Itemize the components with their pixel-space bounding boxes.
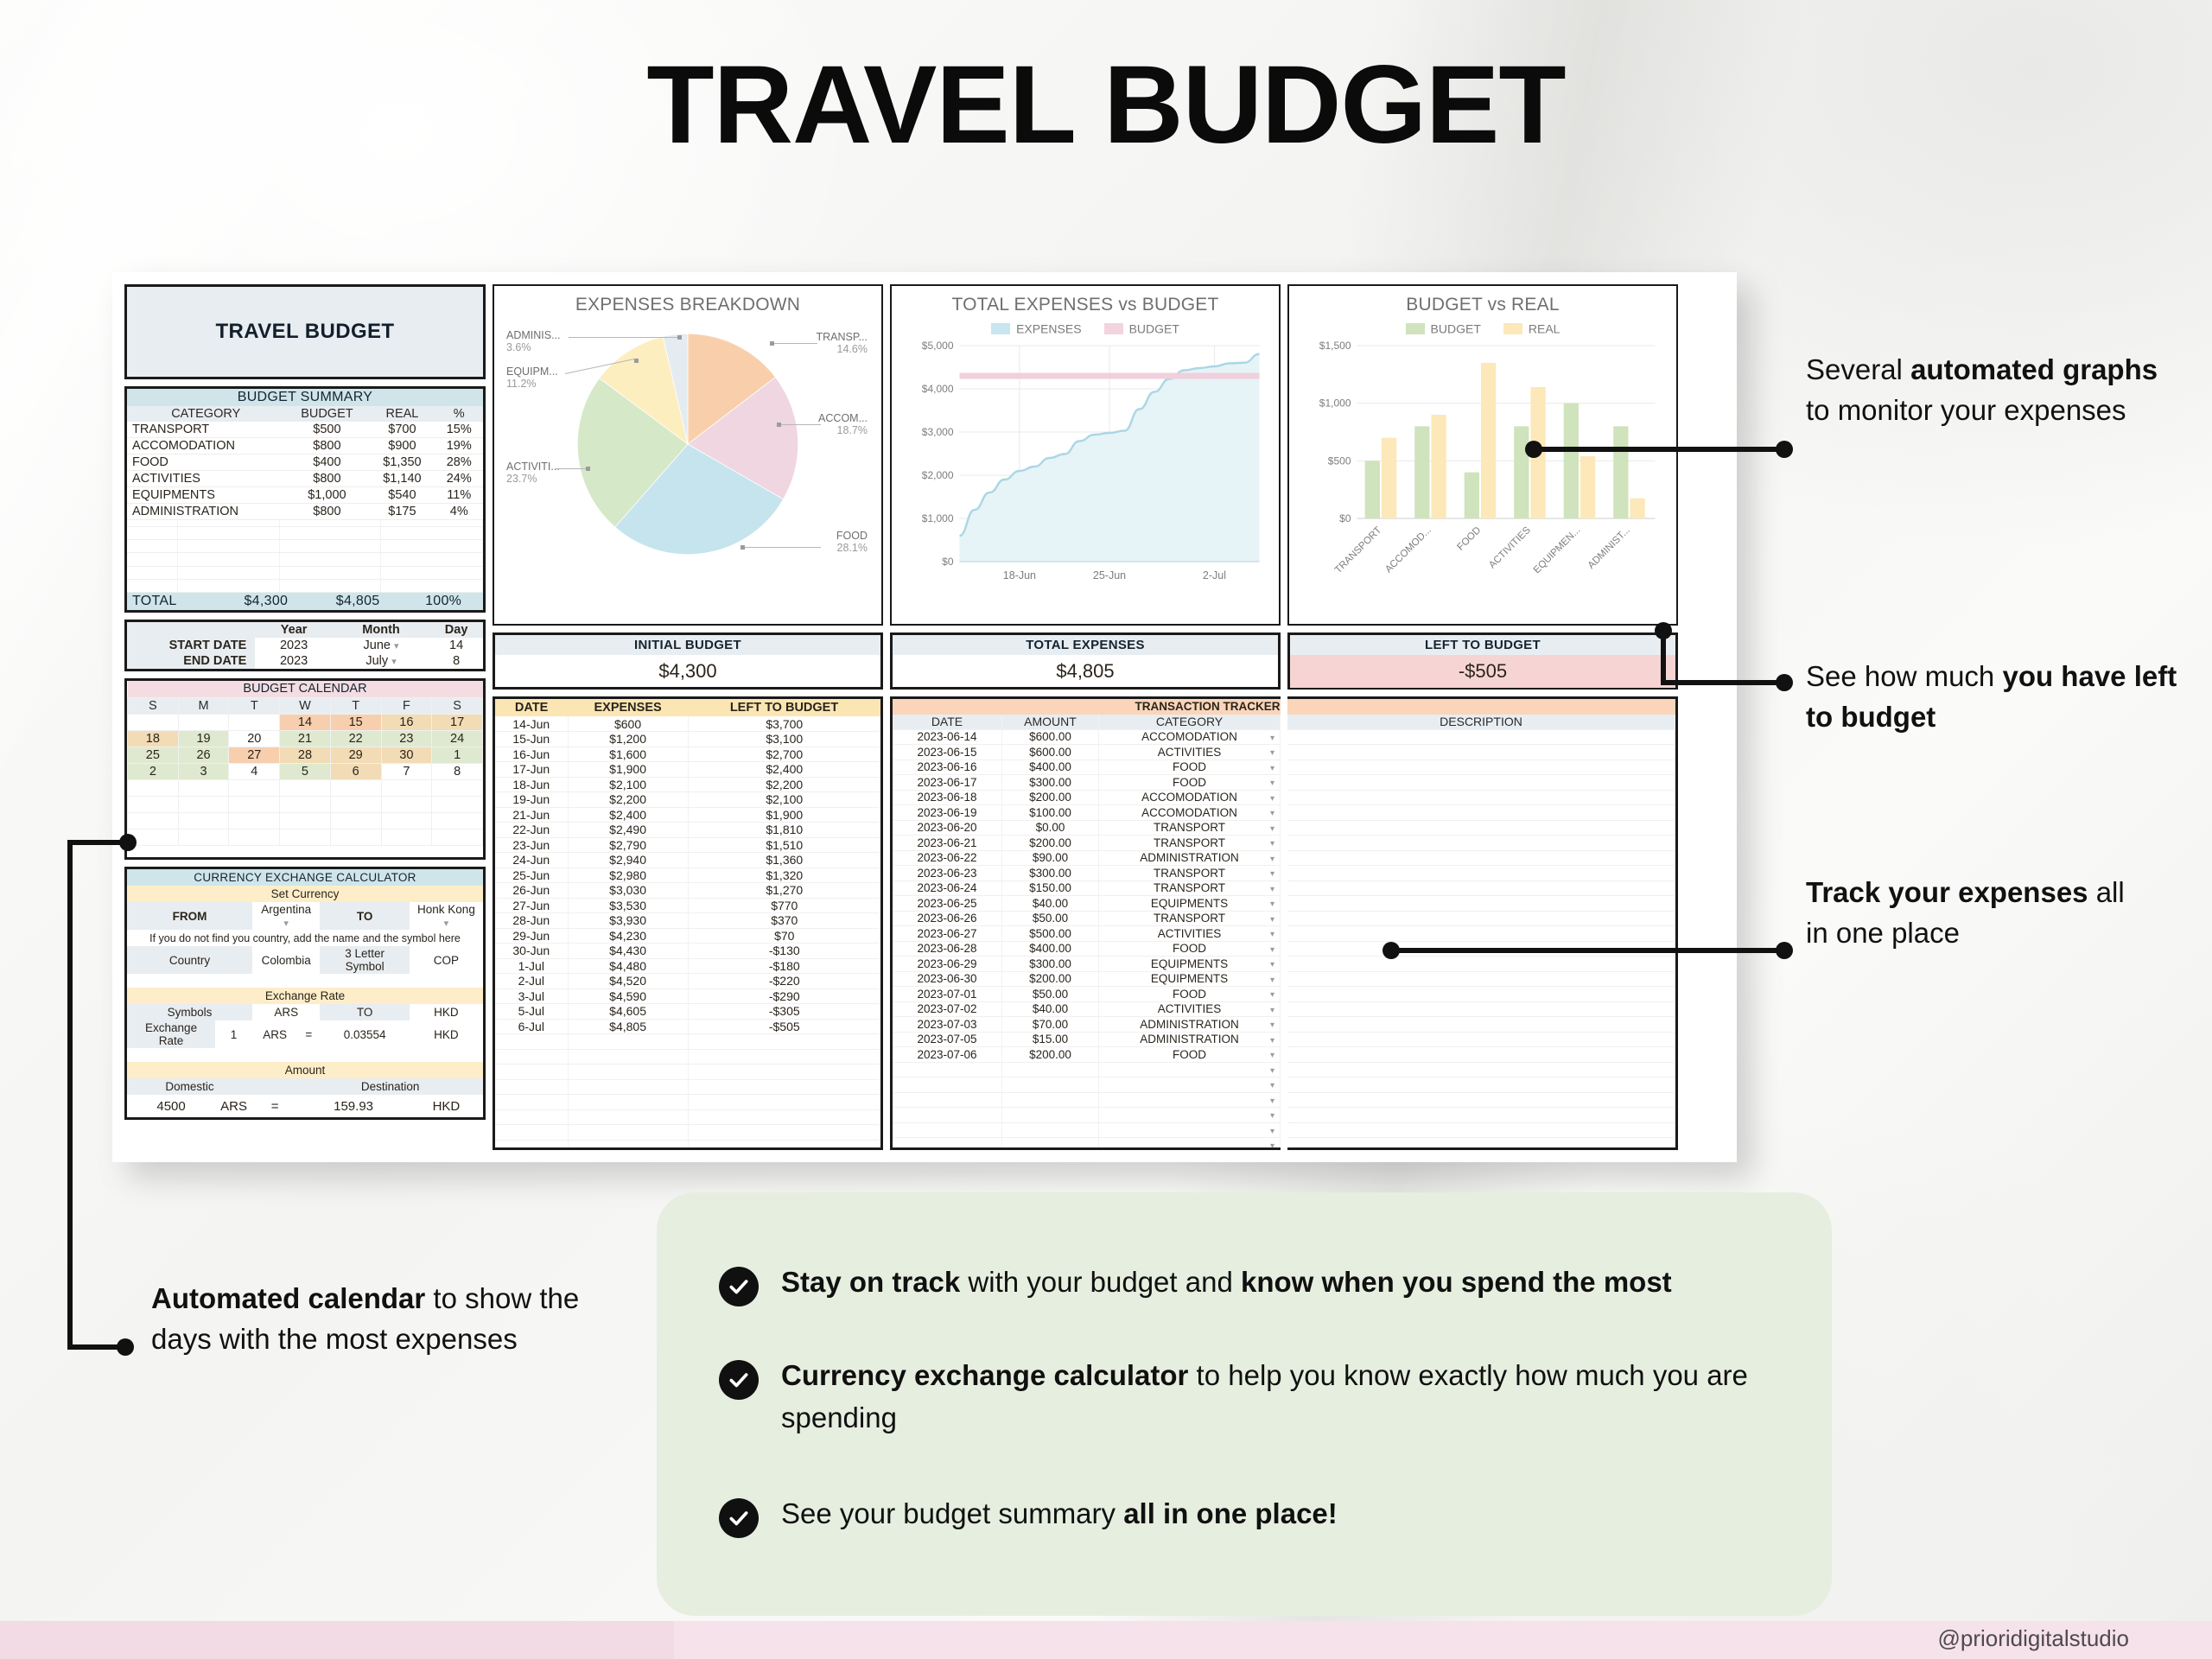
table-row: ▾ (893, 1062, 1281, 1077)
table-row: 16-Jun$1,600$2,700 (495, 747, 880, 762)
description-cell[interactable] (1287, 1017, 1675, 1033)
chart-title: TOTAL EXPENSES vs BUDGET (902, 295, 1268, 315)
converted-amount: 159.93 (297, 1095, 410, 1117)
callout-line-cal-v (67, 840, 73, 1350)
category-select[interactable]: TRANSPORT▾ (1099, 836, 1281, 851)
category-select[interactable]: ACCOMODATION▾ (1099, 729, 1281, 745)
chevron-down-icon: ▾ (1270, 1006, 1274, 1015)
category-select[interactable]: FOOD▾ (1099, 760, 1281, 775)
table-row (1287, 790, 1675, 805)
description-cell[interactable] (1287, 1062, 1675, 1077)
end-date-row: END DATE 2023 July ▾ 8 (127, 653, 483, 669)
category-select[interactable]: TRANSPORT▾ (1099, 911, 1281, 926)
description-cell[interactable] (1287, 896, 1675, 912)
calendar-day: 2 (128, 763, 179, 779)
chevron-down-icon: ▾ (1270, 748, 1274, 758)
table-row: 2023-06-23$300.00TRANSPORT▾ (893, 866, 1281, 881)
feature-bullet-2: Currency exchange calculator to help you… (719, 1355, 1799, 1440)
table-row: ACTIVITIES$800$1,14024% (127, 471, 483, 487)
table-row: 6-Jul$4,805-$505 (495, 1019, 880, 1034)
table-row (1287, 1017, 1675, 1033)
table-row: 22-Jun$2,490$1,810 (495, 823, 880, 838)
x-axis-tick: 2-Jul (1203, 569, 1226, 582)
table-row: 2023-06-26$50.00TRANSPORT▾ (893, 911, 1281, 926)
description-cell[interactable] (1287, 957, 1675, 972)
calendar-day: 3 (178, 763, 229, 779)
legend-item-budget: BUDGET (1406, 321, 1481, 335)
chevron-down-icon: ▾ (1270, 794, 1274, 804)
table-row: ▾ (893, 1077, 1281, 1093)
table-row: 1-Jul$4,480-$180 (495, 958, 880, 974)
x-axis-tick: 18-Jun (1003, 569, 1036, 582)
table-row: 2023-06-29$300.00EQUIPMENTS▾ (893, 957, 1281, 972)
category-select[interactable]: FOOD▾ (1099, 1047, 1281, 1063)
from-country-select[interactable]: Argentina ▾ (252, 902, 320, 930)
description-cell[interactable] (1287, 1138, 1675, 1151)
table-row (1287, 760, 1675, 775)
footer-bar (0, 1621, 2212, 1659)
table-row (1287, 866, 1675, 881)
area-plot: $0$1,000$2,000$3,000$4,000$5,00018-Jun25… (902, 339, 1268, 598)
check-circle-icon (719, 1360, 759, 1400)
calendar-day: 15 (330, 714, 381, 730)
calendar-heading: BUDGET CALENDAR (128, 681, 483, 697)
table-row: 17-Jun$1,900$2,400 (495, 762, 880, 778)
sheet-column-c: TOTAL EXPENSES vs BUDGET EXPENSES BUDGET… (890, 284, 1281, 1150)
table-row (1287, 1032, 1675, 1047)
chart-title: EXPENSES BREAKDOWN (505, 295, 871, 315)
trip-dates-panel: Year Month Day START DATE 2023 June ▾ 14… (124, 620, 486, 671)
description-cell[interactable] (1287, 1001, 1675, 1017)
set-currency-heading: Set Currency (127, 886, 483, 902)
category-select[interactable]: ADMINISTRATION▾ (1099, 1017, 1281, 1033)
description-cell[interactable] (1287, 1092, 1675, 1108)
currency-exchange-panel: CURRENCY EXCHANGE CALCULATOR Set Currenc… (124, 867, 486, 1120)
legend-item-expenses: EXPENSES (991, 321, 1081, 335)
callout-line-left-budget-v (1661, 628, 1666, 685)
budget-calendar-panel: BUDGET CALENDAR S M T W T F S 1415161718… (124, 678, 486, 860)
y-axis-tick: $4,000 (922, 383, 954, 395)
category-select[interactable]: EQUIPMENTS▾ (1099, 896, 1281, 912)
rate-unit: ARS (252, 1020, 297, 1048)
budget-summary-header-row: CATEGORY BUDGET REAL % (127, 406, 483, 422)
table-row: ACCOMODATION$800$90019% (127, 438, 483, 454)
table-row (1287, 880, 1675, 896)
transaction-description-table: DESCRIPTION (1287, 699, 1675, 1150)
initial-budget-kpi: INITIAL BUDGET $4,300 (493, 632, 883, 690)
category-select[interactable]: ▾ (1099, 1092, 1281, 1108)
description-cell[interactable] (1287, 1122, 1675, 1138)
budget-summary-panel: BUDGET SUMMARY CATEGORY BUDGET REAL % TR… (124, 386, 486, 613)
calendar-dow-row: S M T W T F S (128, 697, 483, 714)
x-axis-tick: TRANSPORT (1333, 525, 1383, 575)
table-row (1287, 1077, 1675, 1093)
calendar-day: 27 (229, 747, 280, 763)
description-cell[interactable] (1287, 911, 1675, 926)
table-row: 23-Jun$2,790$1,510 (495, 837, 880, 853)
table-row-empty (495, 1049, 880, 1065)
chevron-down-icon: ▾ (444, 918, 449, 929)
chevron-down-icon: ▾ (1270, 915, 1274, 925)
x-axis-tick: ACTIVITIES (1487, 525, 1533, 571)
chevron-down-icon: ▾ (1270, 1020, 1274, 1030)
calendar-day: 25 (128, 747, 179, 763)
callout-dot-left-budget-end (1776, 674, 1793, 691)
description-cell[interactable] (1287, 790, 1675, 805)
description-cell[interactable] (1287, 1108, 1675, 1123)
chevron-down-icon: ▾ (1270, 1036, 1274, 1046)
chevron-down-icon: ▾ (1270, 976, 1274, 985)
calendar-day: 29 (330, 747, 381, 763)
pie-label-transport: TRANSP...14.6% (816, 331, 868, 355)
description-cell[interactable] (1287, 820, 1675, 836)
table-row (1287, 729, 1675, 745)
chevron-down-icon: ▾ (1270, 809, 1274, 818)
table-row: 2023-06-18$200.00ACCOMODATION▾ (893, 790, 1281, 805)
table-row: 28-Jun$3,930$370 (495, 913, 880, 929)
amount-equals: = (252, 1095, 297, 1117)
calendar-day: 30 (381, 747, 432, 763)
calendar-day: 22 (330, 730, 381, 747)
chevron-down-icon: ▾ (1270, 855, 1274, 864)
rate-target: HKD (410, 1020, 483, 1048)
table-row: TRANSPORT$500$70015% (127, 422, 483, 438)
calendar-day: 7 (381, 763, 432, 779)
table-row (1287, 957, 1675, 972)
col-budget: BUDGET (284, 406, 369, 422)
callout-line-cal-h1 (67, 840, 124, 845)
table-row: EQUIPMENTS$1,000$54011% (127, 487, 483, 504)
end-month-select[interactable]: July ▾ (333, 653, 429, 669)
table-row: 26-Jun$3,030$1,270 (495, 883, 880, 899)
table-row: 30-Jun$4,430-$130 (495, 944, 880, 959)
left-to-budget-kpi: LEFT TO BUDGET -$505 (1287, 632, 1678, 690)
budget-summary-empty-rows (127, 520, 483, 593)
legend-item-real: REAL (1503, 321, 1560, 335)
category-select[interactable]: ADMINISTRATION▾ (1099, 1032, 1281, 1047)
table-row: 2023-06-30$200.00EQUIPMENTS▾ (893, 971, 1281, 987)
y-axis-tick: $0 (942, 556, 954, 568)
chevron-down-icon: ▾ (1270, 734, 1274, 743)
chevron-down-icon: ▾ (1270, 885, 1274, 894)
table-row (1287, 1122, 1675, 1138)
table-row (1287, 971, 1675, 987)
chevron-down-icon: ▾ (1270, 960, 1274, 969)
calendar-day: 8 (432, 763, 483, 779)
table-row-empty (495, 1095, 880, 1110)
spreadsheet-screenshot: TRAVEL BUDGET BUDGET SUMMARY CATEGORY BU… (112, 272, 1737, 1162)
category-select[interactable]: ACTIVITIES▾ (1099, 1001, 1281, 1017)
bar-plot: $0$500$1,000$1,500TRANSPORTACCOMOD...FOO… (1300, 339, 1666, 598)
calendar-weeks: 1415161718192021222324252627282930123456… (128, 714, 483, 779)
description-cell[interactable] (1287, 745, 1675, 760)
sheet-column-b: EXPENSES BREAKDOWN ADMINIS...3.6% EQUIPM… (493, 284, 883, 1150)
table-row (1287, 850, 1675, 866)
chevron-down-icon: ▾ (1270, 930, 1274, 939)
calendar-day: 18 (128, 730, 179, 747)
y-axis-tick: $1,000 (922, 512, 954, 524)
bar-real (1481, 363, 1496, 518)
table-row (1287, 1062, 1675, 1077)
table-row: 25-Jun$2,980$1,320 (495, 868, 880, 883)
annotation-left-to-budget: See how much you have left to budget (1806, 657, 2177, 738)
symbol-input[interactable]: COP (410, 946, 483, 974)
symbols-to: HKD (410, 1004, 483, 1020)
amount-input[interactable]: 4500 (127, 1095, 215, 1117)
category-select[interactable]: ACCOMODATION▾ (1099, 805, 1281, 821)
category-select[interactable]: EQUIPMENTS▾ (1099, 957, 1281, 972)
calendar-day: 5 (280, 763, 331, 779)
to-label: TO (320, 902, 409, 930)
destination-label: Destination (297, 1078, 483, 1095)
table-row (1287, 836, 1675, 851)
chart-legend: EXPENSES BUDGET (902, 321, 1268, 335)
table-row (1287, 896, 1675, 912)
table-row: 2023-07-06$200.00FOOD▾ (893, 1047, 1281, 1063)
table-row: 2023-06-22$90.00ADMINISTRATION▾ (893, 850, 1281, 866)
table-row (1287, 1108, 1675, 1123)
country-label: Country (127, 946, 252, 974)
category-select[interactable]: ACTIVITIES▾ (1099, 745, 1281, 760)
currency-heading: CURRENCY EXCHANGE CALCULATOR (127, 869, 483, 886)
chevron-down-icon: ▾ (1270, 1081, 1274, 1090)
description-cell[interactable] (1287, 926, 1675, 942)
table-row: 24-Jun$2,940$1,360 (495, 853, 880, 868)
calendar-day (229, 714, 280, 730)
table-row (1287, 1047, 1675, 1063)
calendar-day: 16 (381, 714, 432, 730)
table-row: 2023-06-25$40.00EQUIPMENTS▾ (893, 896, 1281, 912)
country-input[interactable]: Colombia (252, 946, 320, 974)
calendar-week: 18192021222324 (128, 730, 483, 747)
expenses-breakdown-chart: EXPENSES BREAKDOWN ADMINIS...3.6% EQUIPM… (493, 284, 883, 626)
category-select[interactable]: EQUIPMENTS▾ (1099, 971, 1281, 987)
feature-bullet-1: Stay on track with your budget and know … (719, 1262, 1799, 1306)
calendar-week: 2345678 (128, 763, 483, 779)
amount-heading: Amount (127, 1062, 483, 1078)
table-row: 2023-06-28$400.00FOOD▾ (893, 941, 1281, 957)
table-row: 2023-06-15$600.00ACTIVITIES▾ (893, 745, 1281, 760)
budget-summary-total-row: TOTAL $4,300 $4,805 100% (127, 593, 483, 610)
rate-value: 0.03554 (320, 1020, 409, 1048)
chevron-down-icon: ▾ (1270, 1127, 1274, 1136)
x-axis-tick: 25-Jun (1093, 569, 1126, 582)
end-day-input[interactable]: 8 (429, 653, 483, 669)
pie-area: ADMINIS...3.6% EQUIPM...11.2% ACTIVITI..… (505, 315, 871, 601)
table-row-empty (495, 1079, 880, 1095)
col-real: REAL (369, 406, 435, 422)
category-select[interactable]: ▾ (1099, 1108, 1281, 1123)
check-circle-icon (719, 1498, 759, 1538)
table-row: 2023-06-24$150.00TRANSPORT▾ (893, 880, 1281, 896)
transaction-tracker-table: TRANSACTION TRACKER DATE AMOUNT CATEGORY… (893, 699, 1281, 1150)
table-row: 14-Jun$600$3,700 (495, 716, 880, 732)
table-row: ADMINISTRATION$800$1754% (127, 504, 483, 520)
calendar-day: 17 (432, 714, 483, 730)
callout-line-track (1391, 948, 1784, 953)
transaction-tracker-left: TRANSACTION TRACKER DATE AMOUNT CATEGORY… (890, 696, 1281, 1150)
calendar-day: 28 (280, 747, 331, 763)
transaction-tracker-right: DESCRIPTION (1287, 696, 1678, 1150)
table-row (1287, 926, 1675, 942)
bar-real (1580, 456, 1595, 518)
start-year-input[interactable]: 2023 (255, 638, 333, 653)
end-year-input[interactable]: 2023 (255, 653, 333, 669)
callout-dot-calendar-end (117, 1338, 134, 1356)
bar-budget (1564, 404, 1579, 518)
y-axis-tick: $3,000 (922, 426, 954, 438)
col-description: DESCRIPTION (1287, 715, 1675, 730)
chevron-down-icon: ▾ (1270, 990, 1274, 1000)
bar-budget (1414, 427, 1429, 519)
calendar-day: 4 (229, 763, 280, 779)
total-expenses-kpi: TOTAL EXPENSES $4,805 (890, 632, 1281, 690)
chevron-down-icon: ▾ (1270, 779, 1274, 788)
chevron-down-icon: ▾ (1270, 1066, 1274, 1076)
table-row-empty (495, 1140, 880, 1150)
table-row (1287, 745, 1675, 760)
calendar-day: 20 (229, 730, 280, 747)
table-row: ▾ (893, 1092, 1281, 1108)
chart-title: BUDGET vs REAL (1300, 295, 1666, 315)
chevron-down-icon: ▾ (1270, 1141, 1274, 1150)
chevron-down-icon: ▾ (1270, 1111, 1274, 1121)
category-select[interactable]: TRANSPORT▾ (1099, 880, 1281, 896)
transaction-tracker-heading: TRANSACTION TRACKER (893, 699, 1281, 715)
category-select[interactable]: ACCOMODATION▾ (1099, 790, 1281, 805)
description-cell[interactable] (1287, 850, 1675, 866)
category-select[interactable]: TRANSPORT▾ (1099, 820, 1281, 836)
features-panel: Stay on track with your budget and know … (657, 1192, 1832, 1616)
pie-label-activities: ACTIVITI...23.7% (506, 461, 560, 485)
pie-label-administration: ADMINIS...3.6% (506, 329, 561, 353)
symbols-to-label: TO (320, 1004, 409, 1020)
description-cell[interactable] (1287, 987, 1675, 1002)
description-cell[interactable] (1287, 880, 1675, 896)
table-row: 27-Jun$3,530$770 (495, 898, 880, 913)
from-label: FROM (127, 902, 252, 930)
table-row: 2023-06-21$200.00TRANSPORT▾ (893, 836, 1281, 851)
symbols-from: ARS (252, 1004, 320, 1020)
calendar-day (178, 714, 229, 730)
description-cell[interactable] (1287, 1077, 1675, 1093)
table-row: 2-Jul$4,520-$220 (495, 974, 880, 989)
table-row: 2023-06-14$600.00ACCOMODATION▾ (893, 729, 1281, 745)
category-select[interactable]: ▾ (1099, 1122, 1281, 1138)
description-cell[interactable] (1287, 1047, 1675, 1063)
table-row (1287, 911, 1675, 926)
pie-label-equipments: EQUIPM...11.2% (506, 365, 558, 390)
category-select[interactable]: ADMINISTRATION▾ (1099, 850, 1281, 866)
col-pct: % (435, 406, 483, 422)
chevron-down-icon: ▾ (1270, 839, 1274, 849)
sheet-column-d: BUDGET vs REAL BUDGET REAL $0$500$1,000$… (1287, 284, 1678, 1150)
description-cell[interactable] (1287, 729, 1675, 745)
chevron-down-icon: ▾ (1270, 764, 1274, 773)
calendar-week: 14151617 (128, 714, 483, 730)
start-day-input[interactable]: 14 (429, 638, 483, 653)
transaction-tracker-header: DATE AMOUNT CATEGORY (893, 715, 1281, 730)
chart-legend: BUDGET REAL (1300, 321, 1666, 335)
budget-summary-table: BUDGET SUMMARY CATEGORY BUDGET REAL % TR… (127, 389, 483, 520)
category-select[interactable]: ▾ (1099, 1062, 1281, 1077)
callout-dot-graphs-end (1776, 441, 1793, 458)
sheet-column-left: TRAVEL BUDGET BUDGET SUMMARY CATEGORY BU… (124, 284, 486, 1150)
description-cell[interactable] (1287, 1032, 1675, 1047)
y-axis-tick: $2,000 (922, 469, 954, 481)
category-select[interactable]: ▾ (1099, 1138, 1281, 1151)
chevron-down-icon: ▾ (1270, 1051, 1274, 1060)
chevron-down-icon: ▾ (391, 657, 397, 667)
category-select[interactable]: TRANSPORT▾ (1099, 866, 1281, 881)
category-select[interactable]: FOOD▾ (1099, 775, 1281, 791)
domestic-label: Domestic (127, 1078, 252, 1095)
table-row-empty (495, 1034, 880, 1050)
pie-label-food: FOOD28.1% (836, 530, 868, 554)
calendar-day: 6 (330, 763, 381, 779)
table-row (1287, 1001, 1675, 1017)
amount-unit: ARS (215, 1095, 252, 1117)
bar-budget (1365, 461, 1380, 519)
pie-label-accomodation: ACCOM...18.7% (818, 412, 868, 436)
category-select[interactable]: ▾ (1099, 1077, 1281, 1093)
table-row (1287, 775, 1675, 791)
table-row: 21-Jun$2,400$1,900 (495, 807, 880, 823)
table-row-empty (495, 1065, 880, 1080)
to-country-select[interactable]: Honk Kong ▾ (410, 902, 483, 930)
bar-real (1431, 415, 1446, 518)
converted-unit: HKD (410, 1095, 483, 1117)
table-row (1287, 805, 1675, 821)
description-cell[interactable] (1287, 805, 1675, 821)
budget-vs-real-chart: BUDGET vs REAL BUDGET REAL $0$500$1,000$… (1287, 284, 1678, 626)
table-row: 2023-06-20$0.00TRANSPORT▾ (893, 820, 1281, 836)
sheet-title-card: TRAVEL BUDGET (124, 284, 486, 379)
description-cell[interactable] (1287, 775, 1675, 791)
table-row (1287, 1138, 1675, 1151)
start-month-select[interactable]: June ▾ (333, 638, 429, 653)
table-row: 15-Jun$1,200$3,100 (495, 732, 880, 747)
table-row (1287, 987, 1675, 1002)
table-row: ▾ (893, 1138, 1281, 1151)
total-expenses-vs-budget-chart: TOTAL EXPENSES vs BUDGET EXPENSES BUDGET… (890, 284, 1281, 626)
category-select[interactable]: ACTIVITIES▾ (1099, 926, 1281, 942)
calendar-day: 14 (280, 714, 331, 730)
category-select[interactable]: FOOD▾ (1099, 987, 1281, 1002)
table-row (1287, 820, 1675, 836)
description-cell[interactable] (1287, 760, 1675, 775)
description-cell[interactable] (1287, 866, 1675, 881)
calendar-day: 23 (381, 730, 432, 747)
pie-chart (576, 333, 799, 556)
table-row: 2023-06-16$400.00FOOD▾ (893, 760, 1281, 775)
chevron-down-icon: ▾ (283, 918, 289, 929)
table-row (1287, 1092, 1675, 1108)
exchange-rate-heading: Exchange Rate (127, 988, 483, 1004)
category-select[interactable]: FOOD▾ (1099, 941, 1281, 957)
bar-budget (1613, 427, 1628, 519)
bar-budget (1465, 473, 1479, 518)
description-cell[interactable] (1287, 836, 1675, 851)
table-row: 2023-06-17$300.00FOOD▾ (893, 775, 1281, 791)
table-row: ▾ (893, 1122, 1281, 1138)
symbol-label: 3 Letter Symbol (320, 946, 409, 974)
table-row: 2023-06-27$500.00ACTIVITIES▾ (893, 926, 1281, 942)
x-axis-tick: ADMINIST... (1586, 525, 1632, 571)
description-cell[interactable] (1287, 971, 1675, 987)
calendar-day (128, 714, 179, 730)
calendar-day: 21 (280, 730, 331, 747)
